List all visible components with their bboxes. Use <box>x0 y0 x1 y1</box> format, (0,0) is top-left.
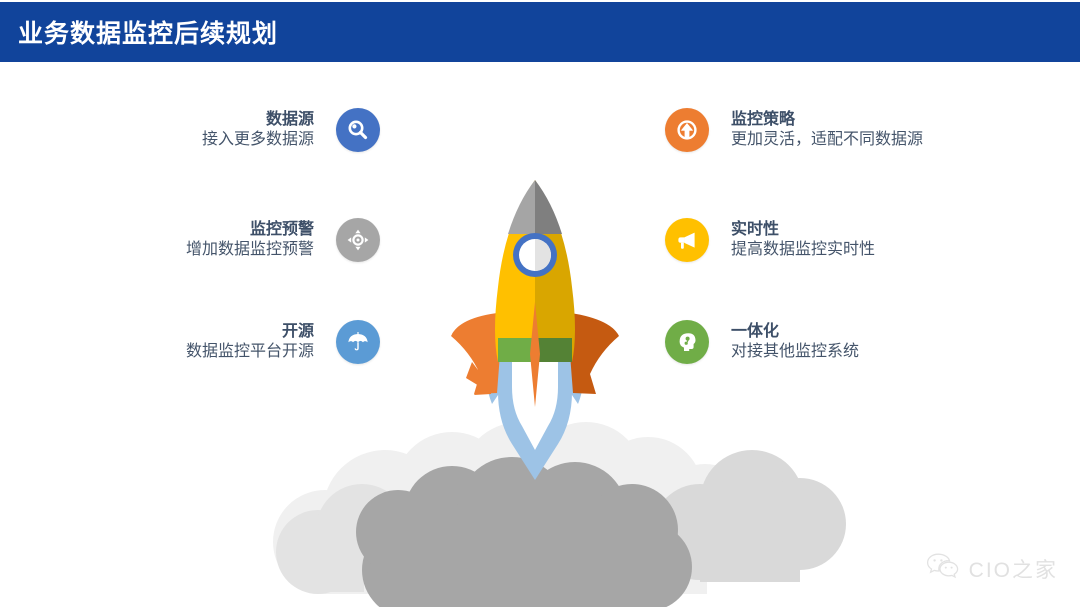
brain-head-icon[interactable] <box>665 320 709 364</box>
slide-body: 数据源 接入更多数据源 监控预警 增加数据监控预警 <box>0 62 1080 607</box>
feature-item-integration[interactable]: 一体化 对接其他监控系统 <box>665 320 1065 364</box>
rocket-window-ring <box>513 233 557 277</box>
rocket-body-left <box>495 180 535 362</box>
feature-text: 一体化 对接其他监控系统 <box>731 322 859 361</box>
cloud-mid-left <box>276 484 408 594</box>
rocket-nose-right <box>535 180 562 234</box>
feature-text: 开源 数据监控平台开源 <box>186 322 314 361</box>
feature-title: 一体化 <box>731 322 859 342</box>
rocket-nose-left <box>508 180 535 234</box>
rocket-fin-left <box>456 315 505 395</box>
rocket-flame <box>486 354 585 480</box>
rocket-fin-left-wide <box>452 312 506 392</box>
feature-title: 开源 <box>186 322 314 342</box>
umbrella-icon[interactable] <box>336 320 380 364</box>
feature-item-opensource[interactable]: 开源 数据监控平台开源 <box>95 320 380 364</box>
feature-subtitle: 对接其他监控系统 <box>731 342 859 362</box>
feature-title: 数据源 <box>202 110 314 130</box>
rocket-body-right <box>535 180 575 362</box>
watermark: CIO之家 <box>926 552 1058 585</box>
rocket-fin-right <box>564 312 619 394</box>
feature-text: 数据源 接入更多数据源 <box>202 110 314 149</box>
feature-title: 实时性 <box>731 220 875 240</box>
feature-subtitle: 增加数据监控预警 <box>186 240 314 260</box>
rocket-trail <box>524 362 546 607</box>
rocket-band-right <box>535 338 572 362</box>
feature-item-alerting[interactable]: 监控预警 增加数据监控预警 <box>95 218 380 262</box>
page-title: 业务数据监控后续规划 <box>18 14 278 50</box>
megaphone-icon[interactable] <box>665 218 709 262</box>
title-banner: 业务数据监控后续规划 <box>0 2 1080 62</box>
feature-item-datasource[interactable]: 数据源 接入更多数据源 <box>95 108 380 152</box>
feature-title: 监控预警 <box>186 220 314 240</box>
feature-text: 实时性 提高数据监控实时性 <box>731 220 875 259</box>
rocket-window-glass-left <box>519 239 551 271</box>
feature-subtitle: 提高数据监控实时性 <box>731 240 875 260</box>
rocket-band-left <box>498 338 535 362</box>
feature-item-realtime[interactable]: 实时性 提高数据监控实时性 <box>665 218 1065 262</box>
feature-subtitle: 更加灵活，适配不同数据源 <box>731 130 923 150</box>
cloud-mid-right <box>652 450 846 582</box>
feature-text: 监控策略 更加灵活，适配不同数据源 <box>731 110 923 149</box>
feature-subtitle: 接入更多数据源 <box>202 130 314 150</box>
crosshair-target-icon[interactable] <box>336 218 380 262</box>
watermark-label: CIO之家 <box>969 554 1058 584</box>
feature-subtitle: 数据监控平台开源 <box>186 342 314 362</box>
up-arrow-circle-icon[interactable] <box>665 108 709 152</box>
feature-title: 监控策略 <box>731 110 923 130</box>
cloud-light-back <box>273 422 755 594</box>
rocket-window-glass-right <box>535 239 551 271</box>
rocket-exhaust-spike <box>530 302 540 407</box>
wechat-logo-icon <box>926 552 960 585</box>
search-icon[interactable] <box>336 108 380 152</box>
feature-item-strategy[interactable]: 监控策略 更加灵活，适配不同数据源 <box>665 108 1065 152</box>
feature-text: 监控预警 增加数据监控预警 <box>186 220 314 259</box>
cloud-dark-front <box>356 457 692 607</box>
